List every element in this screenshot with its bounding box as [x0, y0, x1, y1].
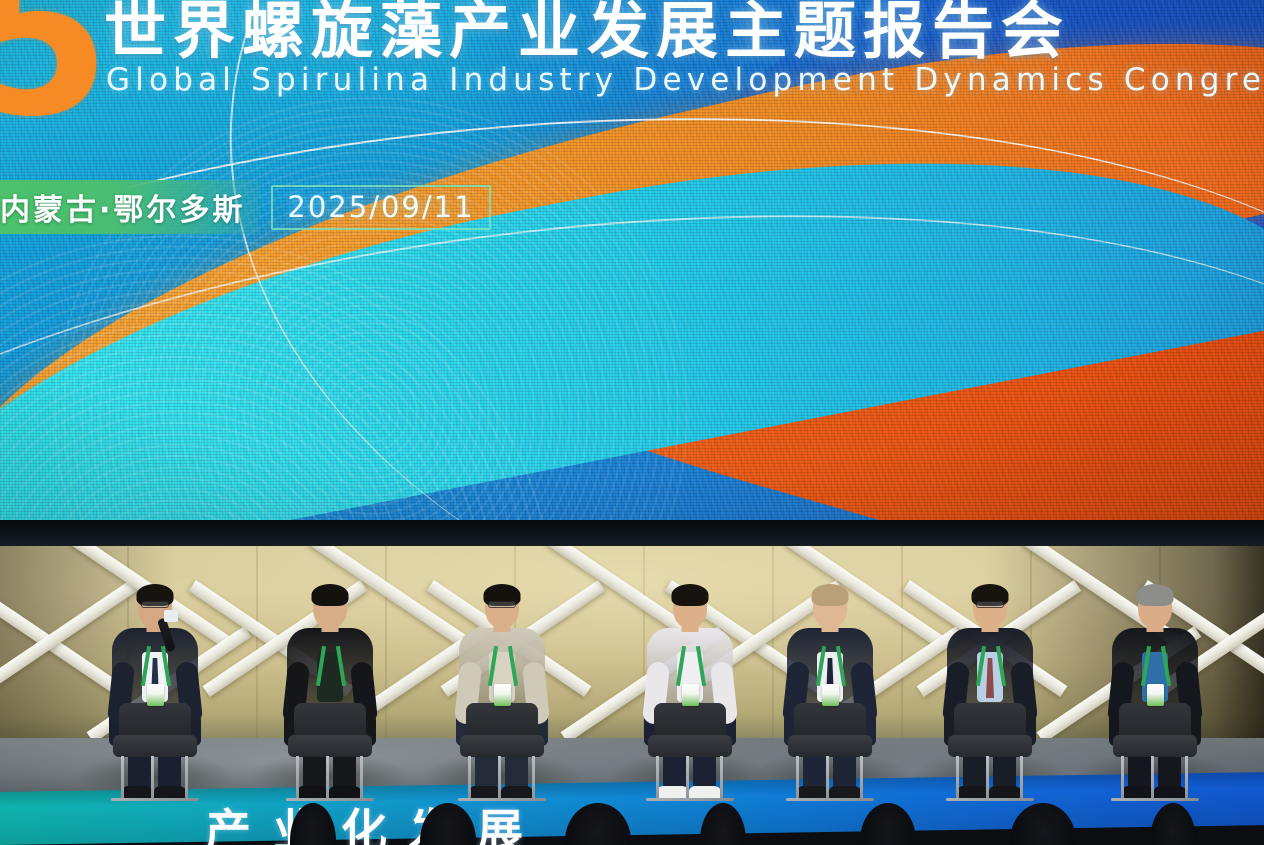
chair-leg	[121, 756, 124, 800]
glasses-icon	[141, 601, 169, 608]
year-numeral: 5	[0, 0, 103, 146]
page-title: 世界螺旋藻产业发展主题报告会	[104, 0, 1070, 65]
chair-leg	[796, 756, 799, 800]
chair	[107, 703, 203, 798]
bottom-led-text: 产业化发展	[205, 795, 545, 845]
chair-leg	[326, 756, 329, 800]
chair-leg	[1121, 756, 1124, 800]
chair-seat	[1113, 735, 1197, 757]
chair-leg	[1020, 756, 1023, 800]
panelist-hair	[672, 584, 709, 606]
chair-rail	[111, 798, 199, 801]
chair-seat	[288, 735, 372, 757]
chair	[1107, 703, 1203, 798]
led-screen: 5 世界螺旋藻产业发展主题报告会 Global Spirulina Indust…	[0, 0, 1264, 524]
venue-bar: 内蒙古·鄂尔多斯 2025/09/11	[0, 180, 491, 234]
chair-leg	[468, 756, 471, 800]
chair-leg	[296, 756, 299, 800]
chair-leg	[956, 756, 959, 800]
chair	[454, 703, 550, 798]
chair	[282, 703, 378, 798]
chair-seat	[460, 735, 544, 757]
chair-leg	[860, 756, 863, 800]
glasses-icon	[976, 601, 1004, 608]
chair-rail	[946, 798, 1034, 801]
chair-seat	[948, 735, 1032, 757]
chair	[942, 703, 1038, 798]
chair-rail	[646, 798, 734, 801]
chair-leg	[498, 756, 501, 800]
chair-leg	[720, 756, 723, 800]
chair-seat	[648, 735, 732, 757]
mic-flag	[164, 610, 178, 622]
chair-rail	[1111, 798, 1199, 801]
event-date-box: 2025/09/11	[271, 185, 490, 230]
badge	[822, 684, 839, 706]
chair-leg	[151, 756, 154, 800]
panelist-2	[275, 598, 385, 798]
chair-leg	[1185, 756, 1188, 800]
chair-seat	[113, 735, 197, 757]
event-date-label: 2025/09/11	[287, 190, 474, 224]
panelist-hair	[812, 584, 849, 606]
panelist-1	[100, 598, 210, 798]
panelist-3	[447, 598, 557, 798]
venue-city-label: 内蒙古·鄂尔多斯	[0, 185, 245, 229]
panelist-hair	[312, 584, 349, 606]
chair-leg	[1151, 756, 1154, 800]
venue-green-band: 内蒙古·鄂尔多斯	[0, 180, 259, 234]
chair-leg	[826, 756, 829, 800]
chair	[782, 703, 878, 798]
badge	[1147, 684, 1164, 706]
badge	[682, 684, 699, 706]
chair-leg	[360, 756, 363, 800]
conference-stage-photo: 5 世界螺旋藻产业发展主题报告会 Global Spirulina Indust…	[0, 0, 1264, 845]
chair-rail	[458, 798, 546, 801]
chair-leg	[656, 756, 659, 800]
stage-area: 产业化发展	[0, 540, 1264, 845]
panelist-hair	[1137, 584, 1174, 606]
panelist-6	[935, 598, 1045, 798]
chair-leg	[532, 756, 535, 800]
badge	[147, 684, 164, 706]
page-subtitle: Global Spirulina Industry Development Dy…	[106, 62, 1264, 98]
chair-leg	[686, 756, 689, 800]
chair-seat	[788, 735, 872, 757]
glasses-icon	[488, 601, 516, 608]
chair	[642, 703, 738, 798]
badge	[494, 684, 511, 706]
screen-stage-seam	[0, 520, 1264, 546]
chair-leg	[986, 756, 989, 800]
panelist-5	[775, 598, 885, 798]
chair-leg	[185, 756, 188, 800]
chair-rail	[286, 798, 374, 801]
panelist-4	[635, 598, 745, 798]
panelist-7	[1100, 598, 1210, 798]
chair-rail	[786, 798, 874, 801]
